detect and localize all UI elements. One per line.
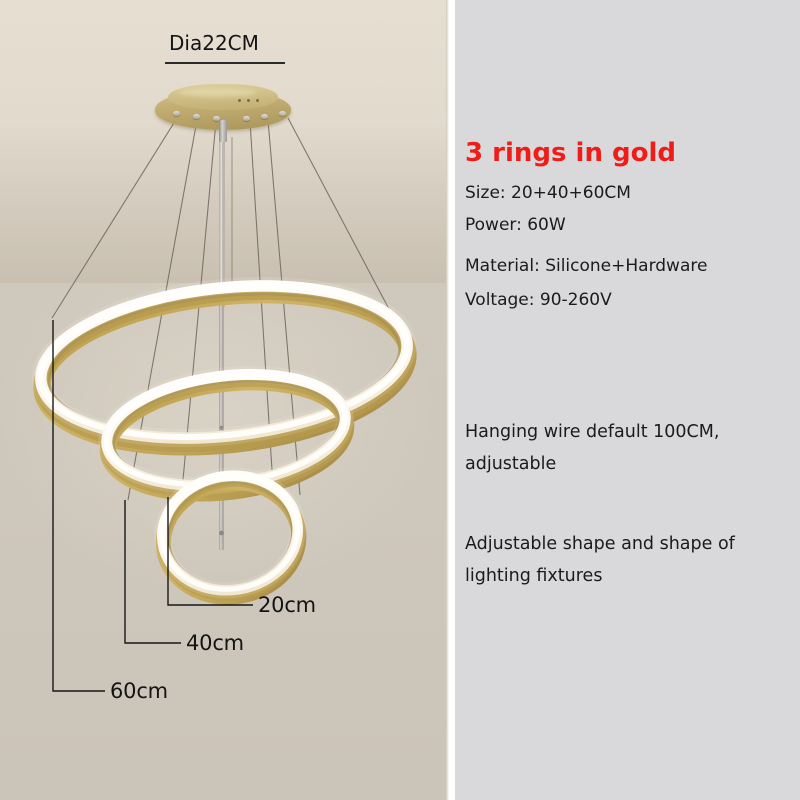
product-title: 3 rings in gold — [465, 138, 676, 168]
canopy-diameter-underline — [165, 62, 285, 64]
spec-material: Material: Silicone+Hardware — [465, 256, 707, 276]
dimension-label-outer: 60cm — [110, 679, 168, 703]
note-hanging-wire: Hanging wire default 100CM, adjustable — [465, 416, 795, 480]
spec-panel: 3 rings in gold Size: 20+40+60CM Power: … — [455, 0, 800, 800]
product-image-canvas: 20cm 40cm 60cm Dia22CM 3 rings in gold S… — [0, 0, 800, 800]
photo-right-edge — [446, 0, 449, 800]
product-photo: 20cm 40cm 60cm Dia22CM — [0, 0, 449, 800]
spec-size: Size: 20+40+60CM — [465, 183, 631, 203]
spec-voltage: Voltage: 90-260V — [465, 290, 612, 310]
dimension-annotations — [0, 0, 449, 800]
canopy-diameter-label: Dia22CM — [169, 31, 259, 55]
dimension-label-inner: 20cm — [258, 593, 316, 617]
spec-power: Power: 60W — [465, 215, 566, 235]
spec-panel-content: 3 rings in gold Size: 20+40+60CM Power: … — [465, 0, 800, 800]
note-adjustable-shape: Adjustable shape and shape of lighting f… — [465, 528, 795, 592]
dimension-label-middle: 40cm — [186, 631, 244, 655]
